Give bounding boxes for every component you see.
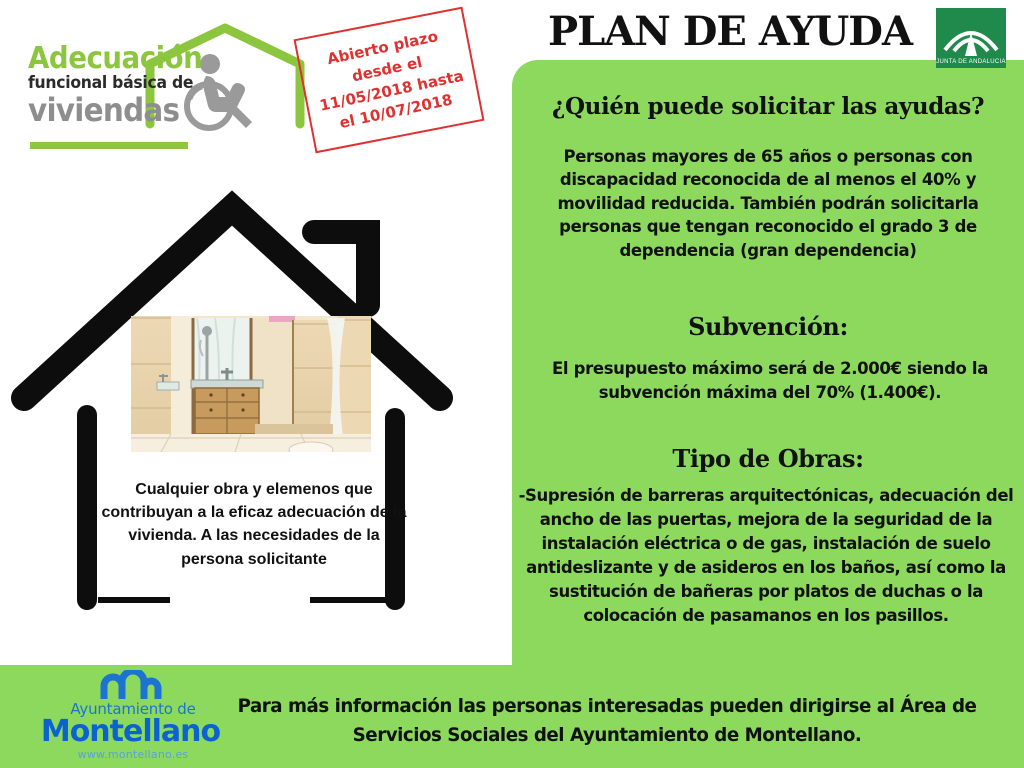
svg-text:JUNTA DE ANDALUCIA: JUNTA DE ANDALUCIA — [936, 59, 1006, 65]
logo-underline-bar — [30, 142, 188, 149]
footer-info-text: Para más información las personas intere… — [212, 692, 1001, 749]
montellano-logo: Ayuntamiento de Montellano www.montellan… — [48, 668, 218, 764]
deadline-stamp-text: Abierto plazo desde el 11/05/2018 hasta … — [302, 21, 475, 139]
bathroom-photo — [131, 316, 371, 452]
section-body-who: Personas mayores de 65 años o personas c… — [524, 145, 1012, 262]
section-heading-works: Tipo de Obras: — [516, 444, 1020, 473]
arches-icon — [100, 670, 162, 700]
logo-line-3: viviendas — [28, 94, 212, 127]
adecuacion-logo: Adecuación funcional básica de viviendas — [28, 18, 298, 148]
logo-line-1: Adecuación — [28, 44, 212, 74]
section-heading-who: ¿Quién puede solicitar las ayudas? — [516, 93, 1020, 120]
section-heading-subsidy: Subvención: — [516, 312, 1020, 341]
section-body-subsidy: El presupuesto máximo será de 2.000€ sie… — [530, 357, 1010, 405]
deadline-stamp: Abierto plazo desde el 11/05/2018 hasta … — [294, 7, 485, 154]
junta-de-andalucia-emblem: JUNTA DE ANDALUCIA — [936, 8, 1006, 68]
section-body-works: -Supresión de barreras arquitectónicas, … — [516, 484, 1016, 628]
poster-canvas: Adecuación funcional básica de viviendas… — [0, 0, 1024, 768]
house-caption: Cualquier obra y elemenos que contribuya… — [96, 478, 412, 571]
montellano-website[interactable]: www.montellano.es — [48, 748, 218, 761]
montellano-line-2: Montellano — [38, 716, 223, 748]
logo-text-block: Adecuación funcional básica de viviendas — [28, 44, 228, 126]
page-title: PLAN DE AYUDA — [530, 12, 930, 52]
